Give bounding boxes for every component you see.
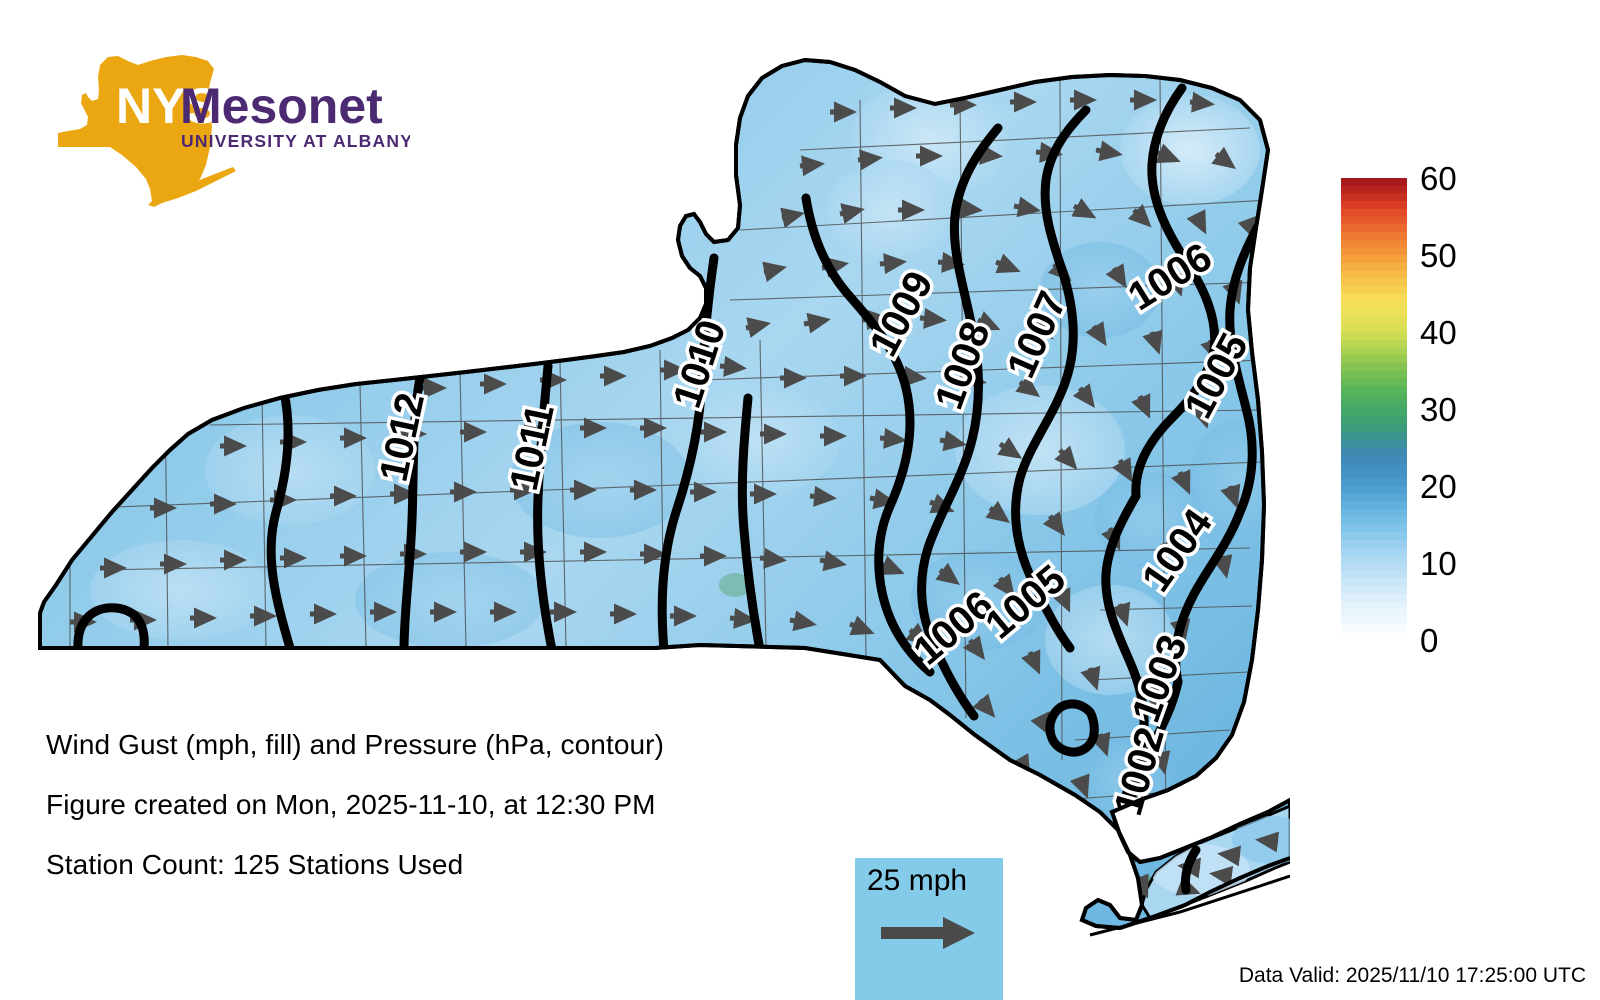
colorbar-band xyxy=(1341,347,1407,355)
colorbar-band xyxy=(1341,432,1407,440)
colorbar-band xyxy=(1341,217,1407,225)
colorbar xyxy=(1341,178,1407,640)
colorbar-band xyxy=(1341,363,1407,371)
data-valid-text: Data Valid: 2025/11/10 17:25:00 UTC xyxy=(1239,964,1586,988)
colorbar-band xyxy=(1341,471,1407,479)
colorbar-band xyxy=(1341,178,1407,186)
colorbar-band xyxy=(1341,571,1407,579)
caption-station-count: Station Count: 125 Stations Used xyxy=(46,835,826,895)
colorbar-band xyxy=(1341,294,1407,302)
colorbar-band xyxy=(1341,563,1407,571)
colorbar-band xyxy=(1341,394,1407,402)
colorbar-band xyxy=(1341,340,1407,348)
colorbar-band xyxy=(1341,232,1407,240)
colorbar-band xyxy=(1341,586,1407,594)
wind-vector-key: 25 mph xyxy=(855,858,1003,1000)
colorbar-tick-60: 60 xyxy=(1420,162,1457,195)
colorbar-band xyxy=(1341,478,1407,486)
colorbar-band xyxy=(1341,409,1407,417)
colorbar-band xyxy=(1341,448,1407,456)
colorbar-band xyxy=(1341,209,1407,217)
colorbar-band xyxy=(1341,424,1407,432)
colorbar-band xyxy=(1341,386,1407,394)
colorbar-band xyxy=(1341,240,1407,248)
colorbar-band xyxy=(1341,486,1407,494)
colorbar-band xyxy=(1341,625,1407,633)
colorbar-band xyxy=(1341,263,1407,271)
colorbar-band xyxy=(1341,555,1407,563)
colorbar-band xyxy=(1341,617,1407,625)
colorbar-tick-50: 50 xyxy=(1420,239,1457,272)
colorbar-band xyxy=(1341,440,1407,448)
colorbar-band xyxy=(1341,224,1407,232)
colorbar-band xyxy=(1341,324,1407,332)
colorbar-band xyxy=(1341,602,1407,610)
colorbar-tick-40: 40 xyxy=(1420,316,1457,349)
colorbar-band xyxy=(1341,594,1407,602)
caption-block: Wind Gust (mph, fill) and Pressure (hPa,… xyxy=(46,715,826,895)
colorbar-band xyxy=(1341,309,1407,317)
colorbar-band xyxy=(1341,578,1407,586)
colorbar-tick-0: 0 xyxy=(1420,624,1438,657)
colorbar-band xyxy=(1341,417,1407,425)
caption-title: Wind Gust (mph, fill) and Pressure (hPa,… xyxy=(46,715,826,775)
colorbar-band xyxy=(1341,378,1407,386)
colorbar-band xyxy=(1341,355,1407,363)
colorbar-band xyxy=(1341,278,1407,286)
colorbar-bands xyxy=(1341,178,1407,640)
colorbar-band xyxy=(1341,509,1407,517)
colorbar-tick-10: 10 xyxy=(1420,547,1457,580)
colorbar-band xyxy=(1341,401,1407,409)
colorbar-band xyxy=(1341,332,1407,340)
caption-created: Figure created on Mon, 2025-11-10, at 12… xyxy=(46,775,826,835)
logo-subtitle: UNIVERSITY AT ALBANY xyxy=(181,131,410,151)
colorbar-band xyxy=(1341,301,1407,309)
colorbar-band xyxy=(1341,270,1407,278)
colorbar-band xyxy=(1341,525,1407,533)
colorbar-band xyxy=(1341,517,1407,525)
colorbar-band xyxy=(1341,455,1407,463)
colorbar-band xyxy=(1341,201,1407,209)
colorbar-band xyxy=(1341,463,1407,471)
colorbar-band xyxy=(1341,494,1407,502)
colorbar-band xyxy=(1341,371,1407,379)
colorbar-band xyxy=(1341,186,1407,194)
colorbar-band xyxy=(1341,286,1407,294)
vector-key-label: 25 mph xyxy=(867,864,967,898)
colorbar-band xyxy=(1341,193,1407,201)
colorbar-band xyxy=(1341,532,1407,540)
colorbar-band xyxy=(1341,540,1407,548)
logo-secondary-text: Mesonet xyxy=(180,78,383,134)
colorbar-band xyxy=(1341,501,1407,509)
colorbar-band xyxy=(1341,632,1407,640)
colorbar-tick-labels: 6050403020100 xyxy=(1420,160,1510,660)
colorbar-tick-30: 30 xyxy=(1420,393,1457,426)
colorbar-band xyxy=(1341,317,1407,325)
colorbar-band xyxy=(1341,548,1407,556)
nys-mesonet-logo: NYS Mesonet UNIVERSITY AT ALBANY xyxy=(50,55,410,215)
colorbar-tick-20: 20 xyxy=(1420,470,1457,503)
colorbar-band xyxy=(1341,247,1407,255)
colorbar-band xyxy=(1341,609,1407,617)
right-arrow-icon xyxy=(881,916,981,955)
colorbar-band xyxy=(1341,255,1407,263)
